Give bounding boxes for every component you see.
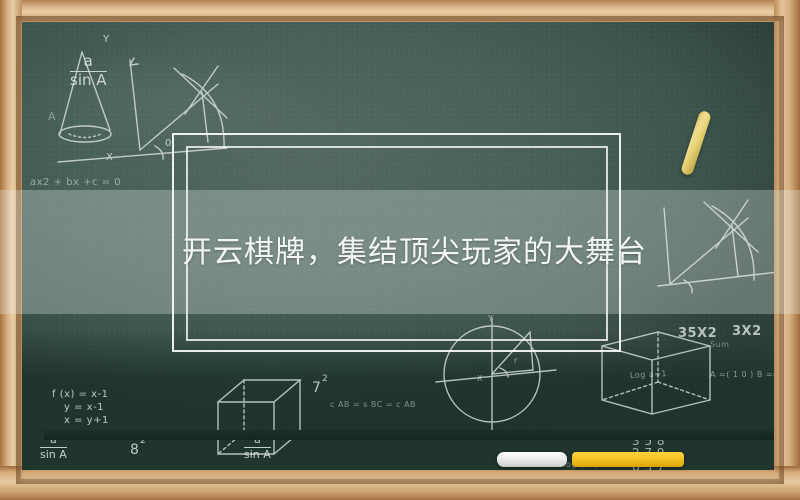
circle-label-r: r [514,356,518,365]
label-log: Log a=1 [630,369,667,380]
matrix-row: A =( 1 0 ) B =( 0 1 ) I =( 1 0 ) [710,370,774,379]
label-7-squared: 7 [312,380,321,396]
fraction-denominator: sin A [244,449,271,461]
white-chalk-piece [497,452,567,467]
function-x: x = y+1 [64,415,109,426]
function-fx: f (x) = x-1 [52,389,109,400]
label-sum: Sum [710,340,729,349]
label-35x2: 35X2 [678,326,717,341]
label-8-squared: 8 [130,442,139,458]
label-7-exponent: 2 [322,374,328,384]
formula-a-over-sin-a: a sin A [70,54,107,89]
amber-chalk-piece [572,452,684,467]
function-y: y = x-1 [64,402,104,413]
fraction-denominator: sin A [70,73,107,89]
chalk-ledge [44,430,774,440]
fraction-denominator: sin A [40,449,67,461]
label-angle-theta: 0 [165,138,172,149]
circle-label-x: X [477,374,483,383]
headline-text: 开云棋牌，集结顶尖玩家的大舞台 [182,238,647,268]
vector-sum: c AB = s BC = c AB [330,400,416,409]
quadratic-equation: ax2 + bx +c = 0 [30,177,121,188]
fraction-numerator: a [70,54,107,70]
label-a: A [48,110,56,123]
label-x-axis: X [106,152,113,163]
label-y-axis: Y [103,34,110,45]
label-3x2: 3X2 [732,324,762,339]
chalkboard-banner: a sin A Y X 0 A ax2 + bx +c = 0 35X2 3X2… [0,0,800,500]
